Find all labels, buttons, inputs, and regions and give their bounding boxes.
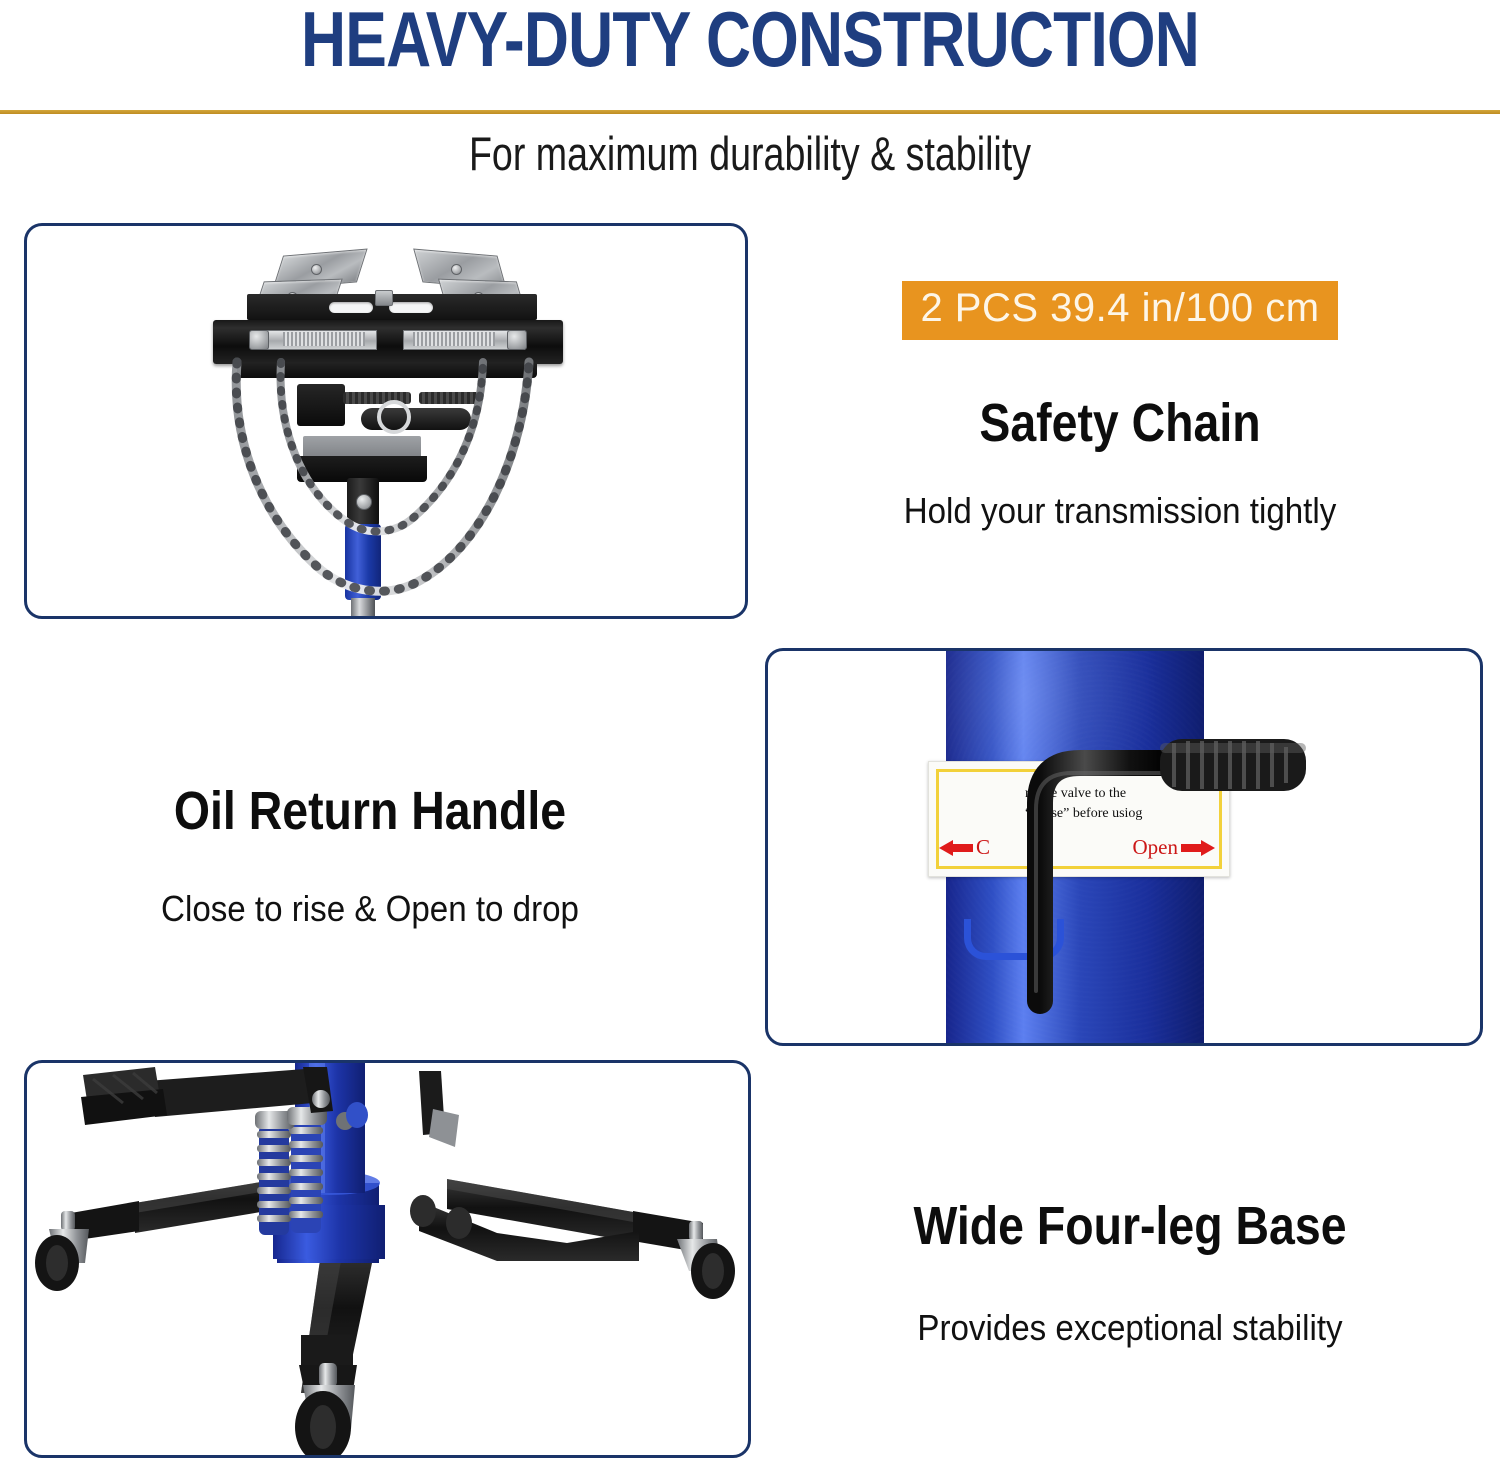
saddle-chain-photo (27, 226, 745, 616)
feature-text-four-leg-base: Wide Four-leg Base Provides exceptional … (800, 1195, 1460, 1349)
four-leg-base-graphic (27, 1063, 748, 1455)
oil-return-handle-graphic (768, 651, 1480, 1043)
side-bracket (419, 1071, 459, 1147)
infographic-page: HEAVY-DUTY CONSTRUCTION For maximum dura… (0, 0, 1500, 1467)
feature-title: Safety Chain (836, 392, 1404, 454)
feature-title: Oil Return Handle (86, 780, 654, 842)
oil-handle-photo: rn the valve to the “Close” before usiog… (768, 651, 1480, 1043)
gold-divider (0, 110, 1500, 114)
feature-title: Wide Four-leg Base (846, 1195, 1414, 1257)
photo-panel-oil-return-handle: rn the valve to the “Close” before usiog… (765, 648, 1483, 1046)
feature-subtitle: Hold your transmission tightly (816, 490, 1423, 532)
photo-panel-safety-chain (24, 223, 748, 619)
safety-chain-graphic (151, 250, 621, 610)
feature-subtitle: Close to rise & Open to drop (66, 888, 673, 930)
feature-text-oil-return-handle: Oil Return Handle Close to rise & Open t… (40, 780, 700, 930)
base-leg-front-center (299, 1239, 377, 1403)
page-subtitle: For maximum durability & stability (150, 126, 1350, 181)
photo-panel-four-leg-base (24, 1060, 751, 1458)
return-spring (255, 1107, 327, 1235)
feature-subtitle: Provides exceptional stability (826, 1307, 1433, 1349)
handle-grip (1160, 739, 1306, 791)
feature-text-safety-chain: 2 PCS 39.4 in/100 cm Safety Chain Hold y… (790, 281, 1450, 532)
status-badge: 2 PCS 39.4 in/100 cm (902, 281, 1337, 340)
page-title: HEAVY-DUTY CONSTRUCTION (150, 0, 1350, 85)
